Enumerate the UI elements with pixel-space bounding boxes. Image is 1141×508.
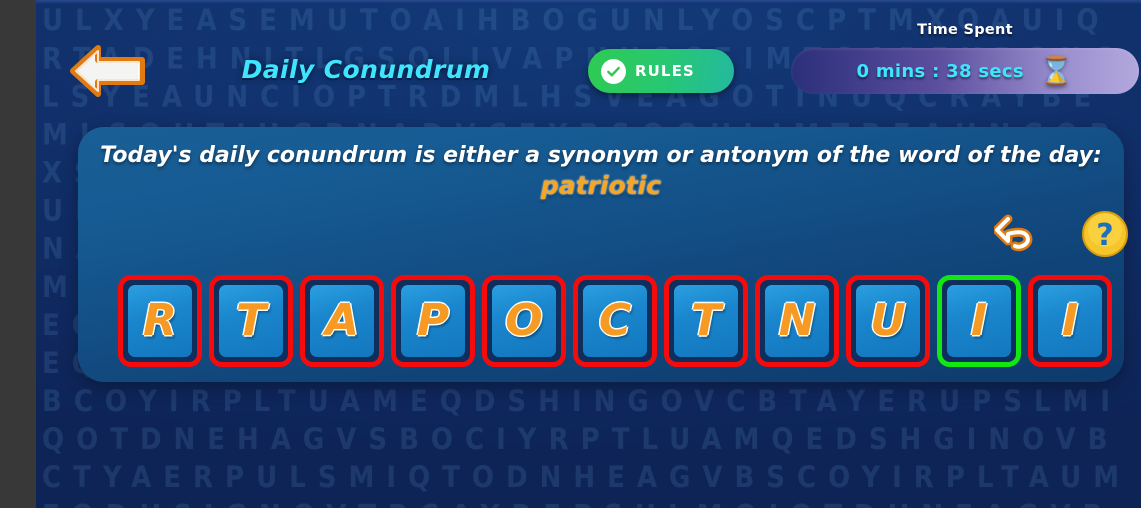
- letter-tile[interactable]: A: [300, 275, 384, 367]
- tile-letter: I: [1062, 299, 1078, 343]
- tile-face: C: [583, 285, 647, 357]
- tile-letter: N: [779, 299, 816, 343]
- letter-tile[interactable]: T: [664, 275, 748, 367]
- help-button[interactable]: ?: [1080, 209, 1130, 259]
- game-stage: ULXYEASEMUTOAIHBOGUNLYOSCPTMXOAUIQRTADEH…: [36, 0, 1141, 508]
- tile-letter: U: [870, 299, 906, 343]
- tile-letter: A: [325, 299, 359, 343]
- tile-letter: R: [143, 299, 177, 343]
- tile-face: T: [219, 285, 283, 357]
- tile-face: T: [674, 285, 738, 357]
- letter-tile[interactable]: U: [846, 275, 930, 367]
- tile-letter: O: [505, 299, 542, 343]
- undo-button[interactable]: [994, 209, 1046, 257]
- tile-letter: C: [599, 299, 631, 343]
- tile-face: A: [310, 285, 374, 357]
- page-title: Daily Conundrum: [196, 55, 536, 84]
- help-question-icon: ?: [1080, 209, 1130, 259]
- letter-tile[interactable]: P: [391, 275, 475, 367]
- hourglass-icon: ⌛: [1040, 58, 1074, 85]
- timer-pill: 0 mins : 38 secs ⌛: [791, 48, 1139, 94]
- rules-button[interactable]: RULES: [588, 49, 734, 93]
- svg-text:?: ?: [1096, 218, 1113, 253]
- time-spent-label: Time Spent: [791, 22, 1139, 38]
- tile-letter: T: [236, 299, 266, 343]
- timer-value: 0 mins : 38 secs: [856, 61, 1023, 82]
- back-arrow-icon: [68, 42, 150, 100]
- letter-tile[interactable]: O: [482, 275, 566, 367]
- back-button[interactable]: [68, 42, 150, 100]
- letter-tile[interactable]: I: [937, 275, 1021, 367]
- conundrum-panel: Today's daily conundrum is either a syno…: [78, 127, 1124, 382]
- letter-tile[interactable]: T: [209, 275, 293, 367]
- letter-tile[interactable]: C: [573, 275, 657, 367]
- letter-tile[interactable]: N: [755, 275, 839, 367]
- tile-face: I: [1038, 285, 1102, 357]
- tile-letter: I: [971, 299, 987, 343]
- tile-face: R: [128, 285, 192, 357]
- letter-tile-row: R T A P: [118, 275, 1112, 367]
- tile-face: U: [856, 285, 920, 357]
- header-bar: Daily Conundrum RULES Time Spent 0 mins …: [36, 0, 1141, 112]
- letter-tile[interactable]: I: [1028, 275, 1112, 367]
- tile-face: P: [401, 285, 465, 357]
- check-circle-icon: [601, 59, 626, 84]
- tile-face: O: [492, 285, 556, 357]
- tile-face: I: [947, 285, 1011, 357]
- rules-button-label: RULES: [635, 62, 695, 80]
- prompt-text: Today's daily conundrum is either a syno…: [78, 143, 1124, 168]
- left-gutter: [0, 0, 36, 508]
- tile-letter: T: [691, 299, 721, 343]
- word-of-the-day: patriotic: [78, 171, 1124, 200]
- tile-letter: P: [417, 299, 449, 343]
- app-root: ♟ ULXYEASEMUTOAIHBOGUNLYOSCPTMXOAUIQRTAD…: [0, 0, 1141, 508]
- letter-tile[interactable]: R: [118, 275, 202, 367]
- undo-arrow-icon: [994, 209, 1046, 257]
- tile-face: N: [765, 285, 829, 357]
